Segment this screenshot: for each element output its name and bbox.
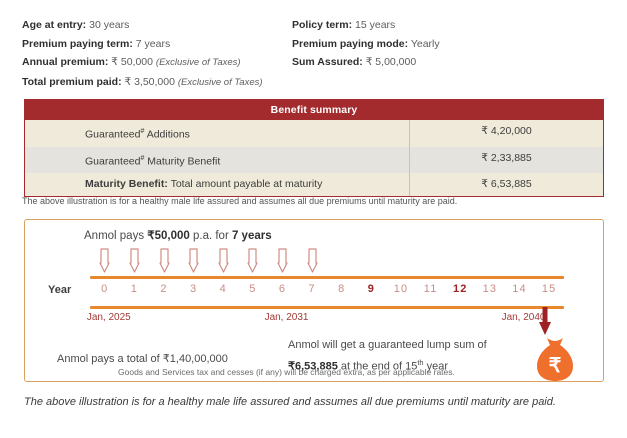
- policy-parameters: Age at entry: 30 years Premium paying te…: [22, 16, 612, 92]
- row-label-text: Guaranteed: [85, 155, 140, 167]
- year-tick-14: 14: [512, 283, 527, 295]
- headline-mid: p.a. for: [190, 230, 232, 242]
- table-row: Guaranteed# Maturity Benefit ₹ 2,33,885: [25, 147, 603, 174]
- premium-arrow-icon: [247, 248, 258, 273]
- headline-amount: ₹50,000: [147, 230, 190, 242]
- row-label-bold: Maturity Benefit:: [85, 178, 168, 190]
- year-axis-ticks: 0123456789101112131415: [90, 283, 564, 301]
- param-label: Age at entry:: [22, 19, 86, 31]
- policy-parameters-right-column: Policy term: 15 years Premium paying mod…: [292, 16, 592, 92]
- param-note: (Exclusive of Taxes): [156, 57, 241, 68]
- param-label: Premium paying term:: [22, 38, 133, 50]
- policy-parameters-left-column: Age at entry: 30 years Premium paying te…: [22, 16, 292, 92]
- year-tick-10: 10: [394, 283, 409, 295]
- headline-pre: Anmol pays: [84, 230, 147, 242]
- date-stamp: Jan, 2031: [265, 312, 309, 323]
- table-cell-value: ₹ 2,33,885: [410, 147, 603, 174]
- table-row: Maturity Benefit: Total amount payable a…: [25, 173, 603, 196]
- param-value: 30 years: [86, 19, 129, 31]
- year-tick-0: 0: [101, 283, 108, 295]
- premium-arrow-icon: [307, 248, 318, 273]
- year-tick-2: 2: [160, 283, 167, 295]
- svg-text:₹: ₹: [549, 355, 562, 377]
- param-value: 7 years: [133, 38, 170, 50]
- param-label: Sum Assured:: [292, 56, 363, 68]
- param-policy-term: Policy term: 15 years: [292, 16, 592, 35]
- premium-arrow-icon: [159, 248, 170, 273]
- row-label-rest: Total amount payable at maturity: [168, 178, 322, 190]
- param-annual-premium: Annual premium: ₹ 50,000 (Exclusive of T…: [22, 53, 292, 73]
- param-premium-paying-term: Premium paying term: 7 years: [22, 35, 292, 54]
- year-tick-1: 1: [131, 283, 138, 295]
- year-tick-5: 5: [249, 283, 256, 295]
- year-tick-15: 15: [542, 283, 557, 295]
- param-age-at-entry: Age at entry: 30 years: [22, 16, 292, 35]
- table-cell-label: Maturity Benefit: Total amount payable a…: [25, 173, 410, 196]
- param-sum-assured: Sum Assured: ₹ 5,00,000: [292, 53, 592, 72]
- premium-payment-arrows: [90, 248, 330, 274]
- param-label: Premium paying mode:: [292, 38, 408, 50]
- premium-arrow-icon: [99, 248, 110, 273]
- premium-arrow-icon: [218, 248, 229, 273]
- year-tick-12: 12: [453, 283, 468, 295]
- table-cell-label: Guaranteed# Maturity Benefit: [25, 147, 410, 174]
- premium-arrow-icon: [188, 248, 199, 273]
- year-tick-4: 4: [220, 283, 227, 295]
- param-total-premium-paid: Total premium paid: ₹ 3,50,000 (Exclusiv…: [22, 73, 292, 93]
- premium-arrow-icon: [129, 248, 140, 273]
- param-label: Policy term:: [292, 19, 352, 31]
- table-footnote: The above illustration is for a healthy …: [22, 196, 457, 206]
- timeline-bar-top: [90, 276, 564, 279]
- table-cell-value: ₹ 4,20,000: [410, 120, 603, 147]
- row-label-text: Guaranteed: [85, 129, 140, 141]
- gst-footnote: Goods and Services tax and cesses (if an…: [118, 367, 455, 377]
- param-label: Annual premium:: [22, 56, 108, 68]
- year-tick-6: 6: [279, 283, 286, 295]
- param-label: Total premium paid:: [22, 76, 122, 88]
- money-bag-icon: ₹: [529, 333, 581, 383]
- total-premium-paid-text: Anmol pays a total of ₹1,40,00,000: [57, 352, 228, 365]
- row-label-rest: Maturity Benefit: [144, 155, 220, 167]
- headline-years: 7 years: [232, 230, 272, 242]
- param-premium-paying-mode: Premium paying mode: Yearly: [292, 35, 592, 54]
- timeline-date-stamps: Jan, 2025Jan, 2031Jan, 2040: [90, 312, 564, 328]
- year-tick-9: 9: [368, 283, 375, 295]
- benefit-summary-table: Benefit summary Guaranteed# Additions ₹ …: [24, 99, 604, 197]
- param-value: ₹ 5,00,000: [363, 56, 416, 68]
- param-value: 15 years: [352, 19, 395, 31]
- benefit-summary-title: Benefit summary: [25, 100, 603, 120]
- premium-arrow-icon: [277, 248, 288, 273]
- timeline-headline: Anmol pays ₹50,000 p.a. for 7 years: [84, 228, 272, 242]
- year-tick-7: 7: [309, 283, 316, 295]
- maturity-arrow-icon: [539, 307, 551, 335]
- table-cell-value: ₹ 6,53,885: [410, 173, 603, 196]
- table-cell-label: Guaranteed# Additions: [25, 120, 410, 147]
- year-axis-label: Year: [48, 284, 71, 296]
- year-tick-8: 8: [338, 283, 345, 295]
- year-tick-3: 3: [190, 283, 197, 295]
- param-value: ₹ 50,000: [108, 56, 156, 68]
- table-row: Guaranteed# Additions ₹ 4,20,000: [25, 120, 603, 147]
- illustration-disclaimer: The above illustration is for a healthy …: [24, 396, 556, 408]
- param-value: ₹ 3,50,000: [122, 76, 178, 88]
- lump-line-1: Anmol will get a guaranteed lump sum of: [288, 339, 487, 351]
- year-tick-13: 13: [483, 283, 498, 295]
- row-label-rest: Additions: [144, 129, 190, 141]
- year-tick-11: 11: [424, 283, 438, 295]
- date-stamp: Jan, 2025: [87, 312, 131, 323]
- timeline-bar-bottom: [90, 306, 564, 309]
- param-note: (Exclusive of Taxes): [178, 77, 263, 88]
- param-value: Yearly: [408, 38, 440, 50]
